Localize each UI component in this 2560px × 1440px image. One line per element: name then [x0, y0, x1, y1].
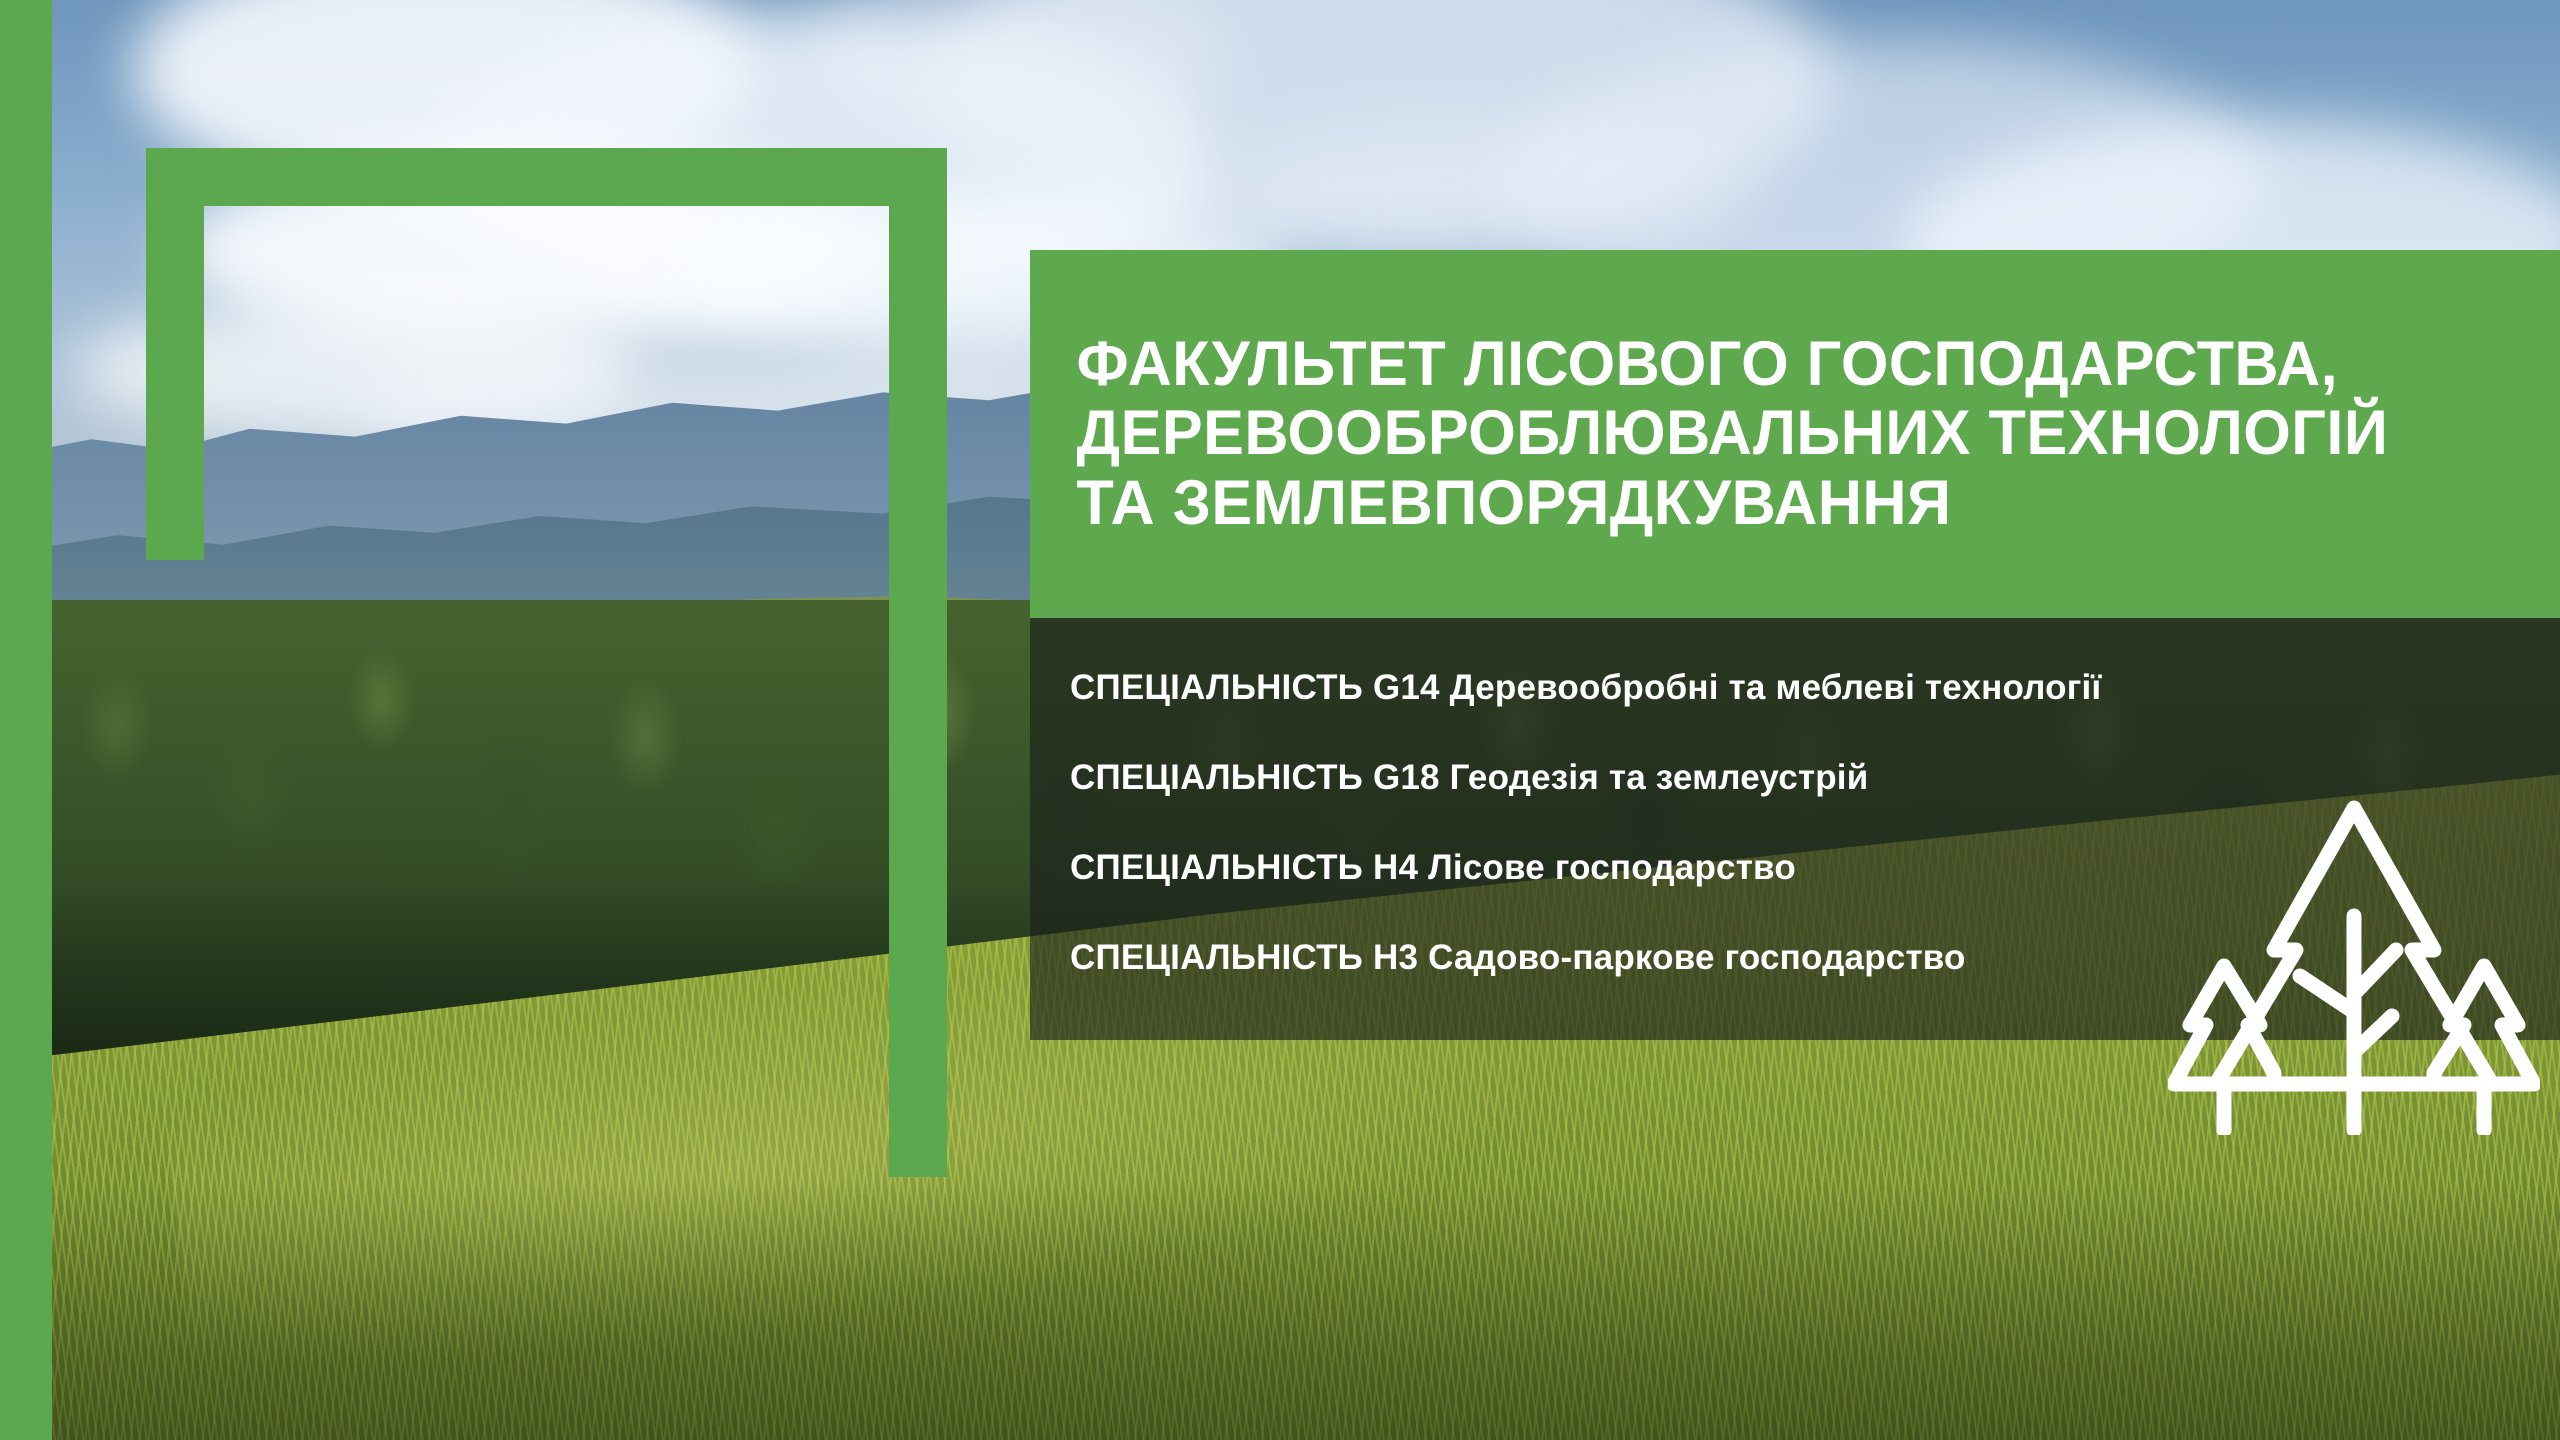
specialty-name: Садово-паркове господарство: [1428, 938, 1966, 977]
green-frame-top-bar: [146, 148, 947, 206]
green-frame-left-bar: [146, 148, 204, 560]
page-title: ФАКУЛЬТЕТ ЛІСОВОГО ГОСПОДАРСТВА, ДЕРЕВОО…: [1030, 330, 2431, 538]
specialty-code: G18: [1373, 758, 1440, 797]
specialty-code: G14: [1373, 668, 1440, 707]
specialty-label: СПЕЦІАЛЬНІСТЬ: [1070, 938, 1363, 977]
three-trees-logo: [2168, 790, 2540, 1135]
title-banner: ФАКУЛЬТЕТ ЛІСОВОГО ГОСПОДАРСТВА, ДЕРЕВОО…: [1030, 250, 2560, 618]
specialty-name: Деревообробні та меблеві технології: [1450, 668, 2102, 707]
page-title-line-1: ФАКУЛЬТЕТ ЛІСОВОГО ГОСПОДАРСТВА,: [1077, 330, 2389, 399]
left-green-band: [0, 0, 52, 1440]
specialty-code: H3: [1373, 938, 1418, 977]
page-title-line-2: ДЕРЕВООБРОБЛЮВАЛЬНИХ ТЕХНОЛОГІЙ: [1077, 399, 2389, 468]
green-frame-right-bar: [889, 148, 947, 1177]
specialty-name: Лісове господарство: [1428, 848, 1796, 887]
page-title-line-3: ТА ЗЕМЛЕВПОРЯДКУВАННЯ: [1077, 469, 2389, 538]
specialty-code: H4: [1373, 848, 1418, 887]
specialty-label: СПЕЦІАЛЬНІСТЬ: [1070, 758, 1363, 797]
specialty-label: СПЕЦІАЛЬНІСТЬ: [1070, 668, 1363, 707]
specialty-label: СПЕЦІАЛЬНІСТЬ: [1070, 848, 1363, 887]
branch-upper-left-icon: [2300, 976, 2354, 1012]
poster-slide: ФАКУЛЬТЕТ ЛІСОВОГО ГОСПОДАРСТВА, ДЕРЕВОО…: [0, 0, 2560, 1440]
meadow-shadow: [52, 1180, 2560, 1440]
list-item: СПЕЦІАЛЬНІСТЬ G14 Деревообробні та мебле…: [1070, 670, 2430, 705]
specialty-name: Геодезія та землеустрій: [1450, 758, 1869, 797]
